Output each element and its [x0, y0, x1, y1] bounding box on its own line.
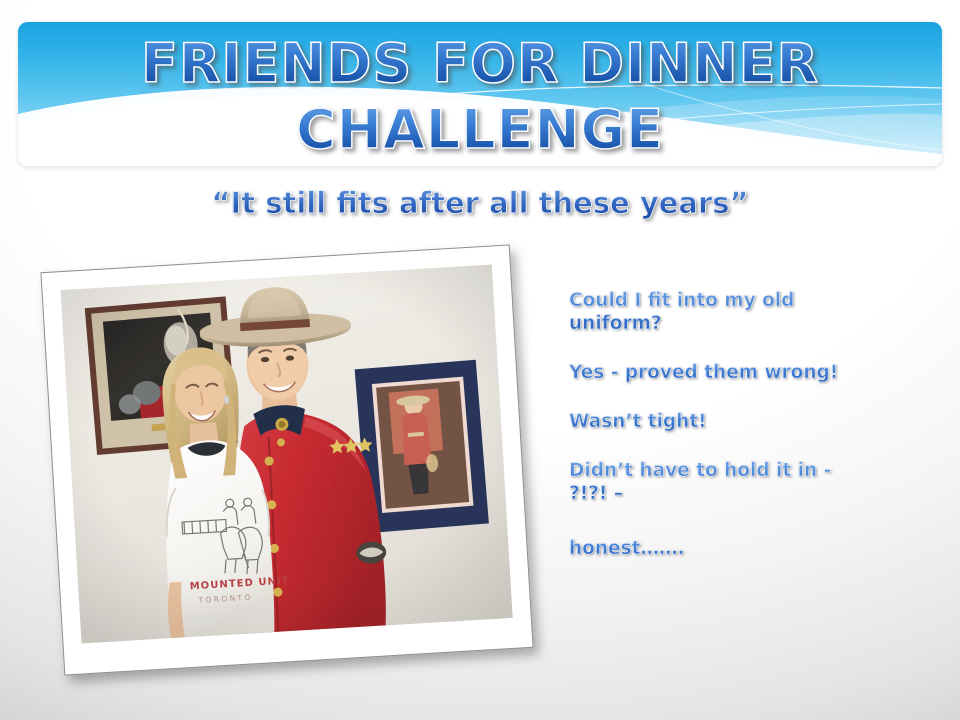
body-text-block: Could I fit into my old uniform? Yes - p…: [569, 289, 869, 560]
photo-frame: MOUNTED UNIT TORONTO: [40, 244, 533, 675]
slide-canvas: FRIENDS FOR DINNER CHALLENGE “It still f…: [0, 0, 960, 720]
banner-title-block: FRIENDS FOR DINNER CHALLENGE: [18, 22, 942, 162]
photograph-content: MOUNTED UNIT TORONTO: [61, 265, 513, 644]
body-line-5: honest…….: [569, 537, 869, 560]
body-line-2: Yes - proved them wrong!: [569, 361, 869, 384]
title-banner: FRIENDS FOR DINNER CHALLENGE: [18, 22, 942, 166]
body-line-1: Could I fit into my old uniform?: [569, 289, 869, 335]
body-line-4: Didn’t have to hold it in - ?!?! –: [569, 459, 869, 505]
title-line-2: CHALLENGE: [18, 96, 942, 162]
title-line-1: FRIENDS FOR DINNER: [18, 22, 942, 96]
body-line-3: Wasn’t tight!: [569, 410, 869, 433]
subtitle-text: “It still fits after all these years”: [0, 186, 960, 220]
photograph: MOUNTED UNIT TORONTO: [61, 265, 513, 644]
